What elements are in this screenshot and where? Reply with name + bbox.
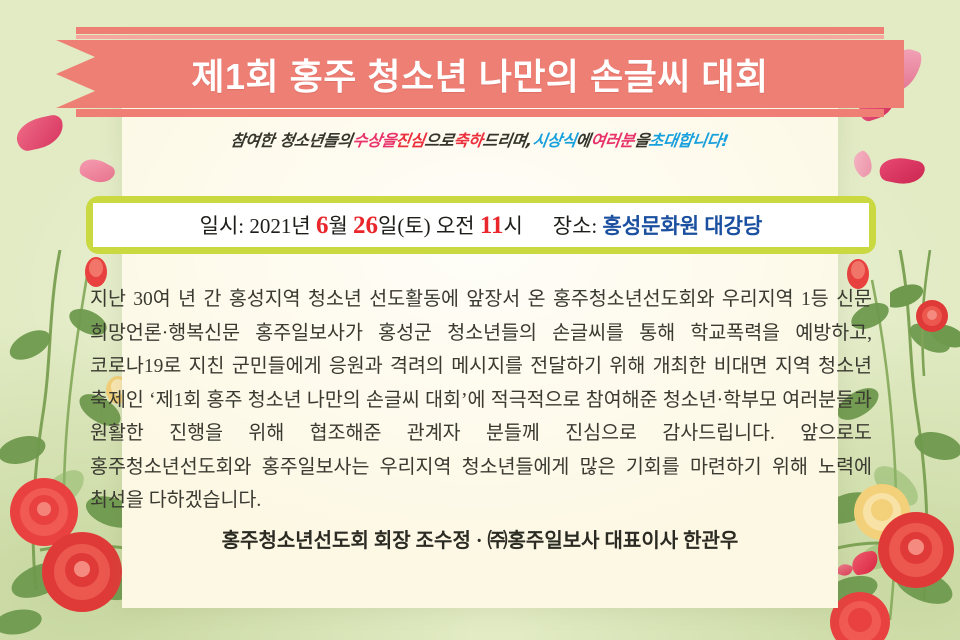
petal-bottom-right-small [836,562,853,578]
subtitle-seg-7: 드리며, [482,127,535,151]
event-info-inner: 일시: 2021년 6월 26일(토) 오전 11시 장소: 홍성문화원 대강당 [93,203,869,247]
event-datetime: 일시: 2021년 6월 26일(토) 오전 11시 [200,210,523,240]
ribbon-stripe-top [76,27,884,34]
date-year: 2021년 [249,214,310,238]
petal-right-lower [878,154,926,189]
subtitle-seg-sincere: 진심 [395,127,427,151]
subtitle-seg-5: 으로 [424,127,456,151]
title-ribbon: 제1회 홍주 청소년 나만의 손글씨 대회 [56,27,904,119]
subtitle-seg-everyone: 여러분 [589,127,636,151]
ribbon-stripe-bottom [76,109,884,117]
body-paragraph: 지난 30여 년 간 홍성지역 청소년 선도활동에 앞장서 온 홍주청소년선도회… [90,283,872,518]
date-ampm: 오전 [436,214,475,238]
petal-top-left [13,113,66,152]
subtitle-seg-invite: 초대합니다! [647,127,730,151]
subtitle-seg-1: 참여한 청소년들의 [230,127,355,151]
rose-decoration-right-upper [890,250,960,380]
subtitle-seg-ceremony: 시상식 [531,127,578,151]
petal-bottom-right-float [851,550,880,575]
date-day-unit: 일(토) [378,214,431,238]
place-value: 홍성문화원 대강당 [603,214,763,238]
petal-left-lower [77,153,117,188]
date-hour-unit: 시 [503,214,522,238]
subtitle-line: 참여한 청소년들의 수상을 진심으로 축하드리며, 시상식에 여러분을 초대합니… [122,127,838,151]
place-label: 장소: [553,214,597,238]
signature-line: 홍주청소년선도회 회장 조수정 · ㈜홍주일보사 대표이사 한관우 [122,524,838,553]
date-month-number: 6 [316,212,329,239]
petal-right-small [849,149,877,179]
event-place: 장소: 홍성문화원 대강당 [553,210,763,240]
date-label: 일시: [200,214,244,238]
date-hour-number: 11 [480,212,504,239]
date-day-number: 26 [353,212,378,239]
ribbon-stripe-top-light [76,35,884,39]
event-info-bar: 일시: 2021년 6월 26일(토) 오전 11시 장소: 홍성문화원 대강당 [86,196,876,254]
poster-canvas: 제1회 홍주 청소년 나만의 손글씨 대회 참여한 청소년들의 수상을 진심으로… [0,0,960,640]
banner-title: 제1회 홍주 청소년 나만의 손글씨 대회 [56,40,904,108]
date-month-unit: 월 [328,214,347,238]
subtitle-seg-award: 수상을 [351,127,398,151]
subtitle-seg-congrats: 축하 [453,127,485,151]
